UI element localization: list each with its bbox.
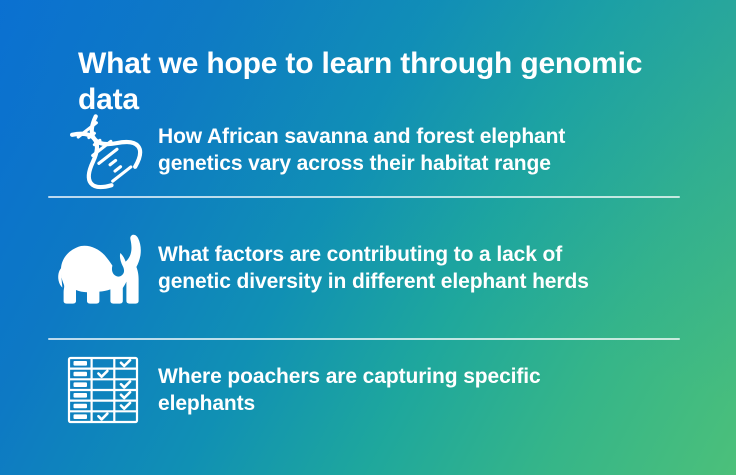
bullet-list: How African savanna and forest elephant … [0, 104, 736, 440]
list-item-label: What factors are contributing to a lack … [158, 241, 678, 295]
data-table-checklist-icon [48, 355, 158, 425]
slide-root: What we hope to learn through genomic da… [0, 0, 736, 475]
list-item: Where poachers are capturing specific el… [0, 340, 736, 440]
dna-helix-icon [48, 113, 158, 187]
list-item: How African savanna and forest elephant … [0, 104, 736, 196]
elephant-icon [48, 230, 158, 306]
list-item-label: How African savanna and forest elephant … [158, 123, 678, 177]
list-item: What factors are contributing to a lack … [0, 198, 736, 338]
list-item-label: Where poachers are capturing specific el… [158, 363, 678, 417]
